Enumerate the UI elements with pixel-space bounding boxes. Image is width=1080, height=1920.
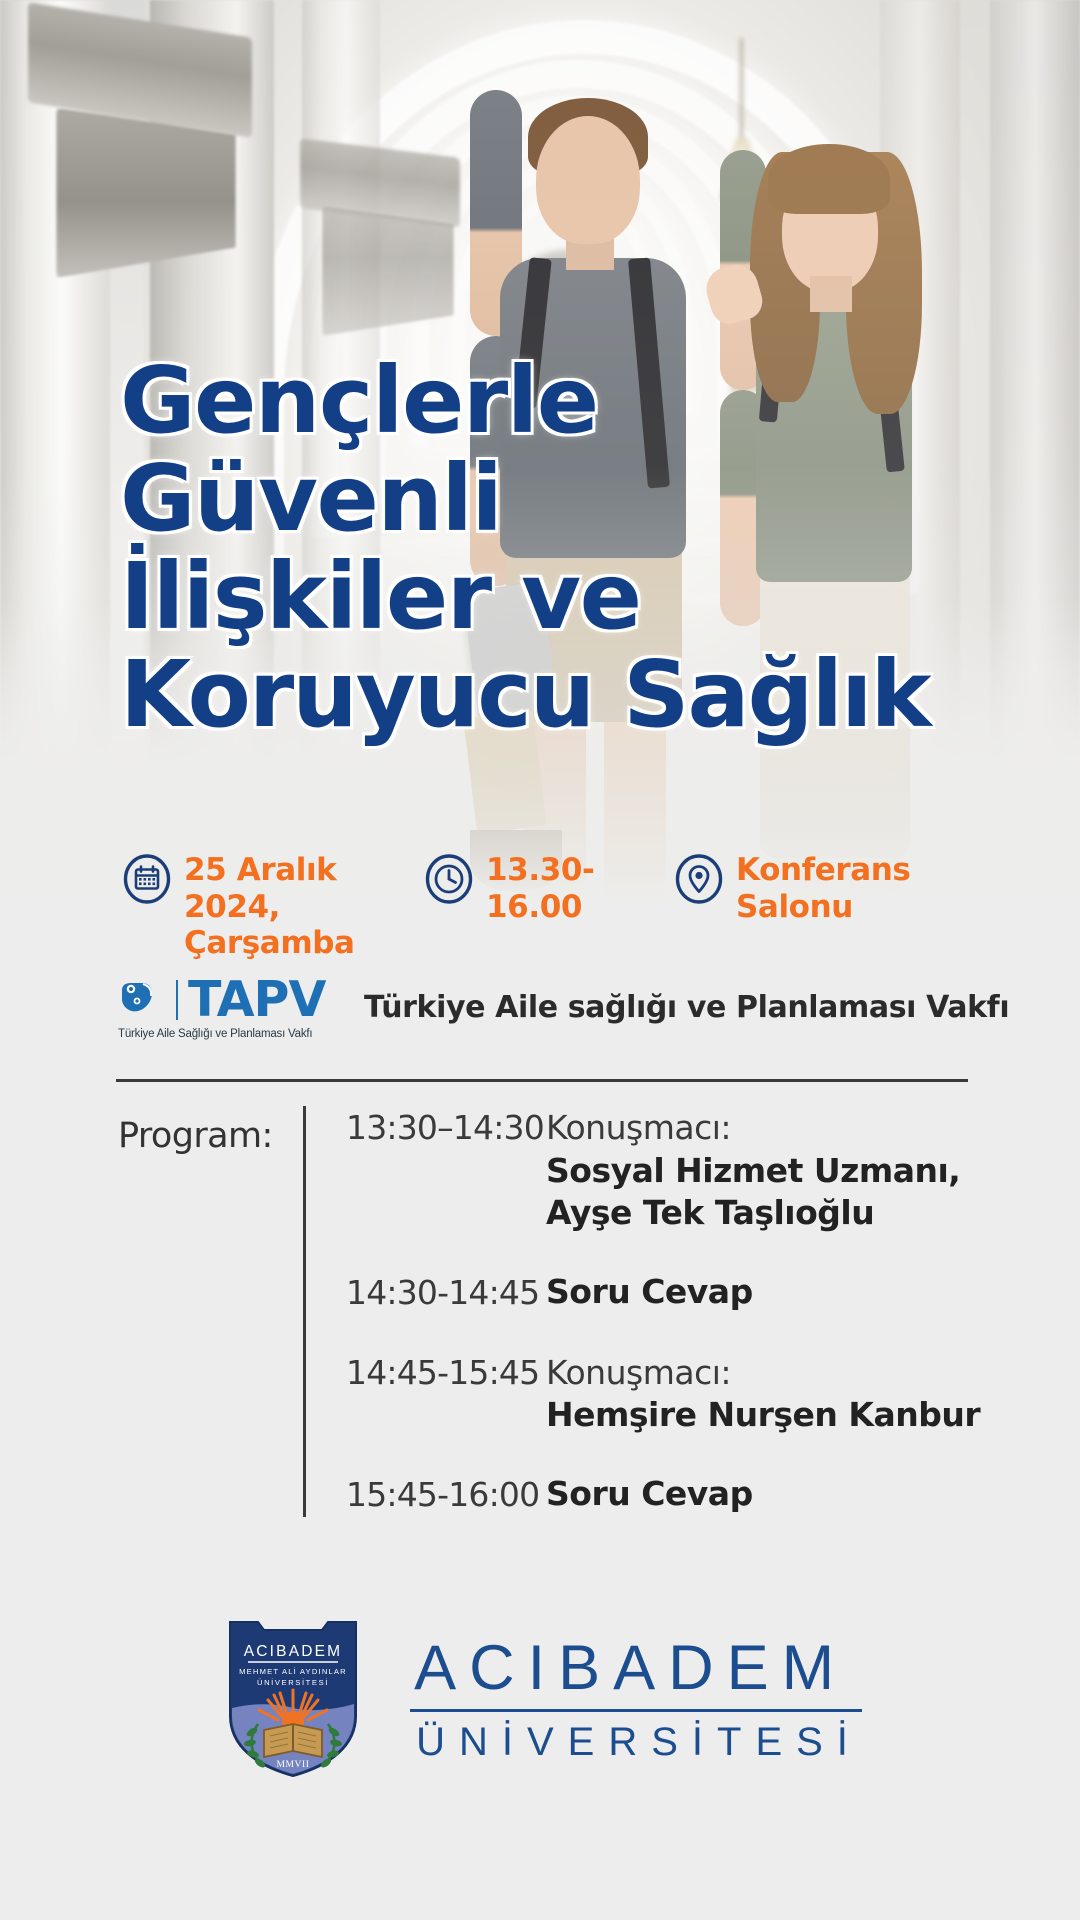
acibadem-wordmark-line2: ÜNİVERSİTESİ bbox=[410, 1722, 862, 1763]
tapv-tagline: Türkiye Aile Sağlığı ve Planlaması Vakfı bbox=[118, 1028, 312, 1040]
program-row: 13:30–14:30 Konuşmacı: Sosyal Hizmet Uzm… bbox=[346, 1106, 998, 1235]
program-row-strong-1: Soru Cevap bbox=[546, 1271, 998, 1314]
program-row: 15:45-16:00 Soru Cevap bbox=[346, 1473, 998, 1517]
info-date: 25 Aralık 2024, Çarşamba bbox=[122, 852, 410, 962]
info-time: 13.30-16.00 bbox=[424, 852, 660, 925]
event-info-bar: 25 Aralık 2024, Çarşamba 13.30-16.00 bbox=[122, 852, 1002, 962]
section-divider bbox=[116, 1079, 968, 1082]
program-rows: 13:30–14:30 Konuşmacı: Sosyal Hizmet Uzm… bbox=[346, 1106, 998, 1517]
svg-text:MMVII: MMVII bbox=[277, 1760, 310, 1770]
acibadem-wordmark: ACIBADEM ÜNİVERSİTESİ bbox=[410, 1636, 862, 1763]
tapv-title: Türkiye Aile sağlığı ve Planlaması Vakfı bbox=[364, 990, 1009, 1025]
tapv-logo-icon bbox=[118, 977, 166, 1022]
info-time-text: 13.30-16.00 bbox=[486, 852, 660, 925]
program-row-strong-1: Sosyal Hizmet Uzmanı, bbox=[546, 1150, 998, 1193]
title-line-2: Güvenli bbox=[120, 453, 990, 545]
footer-branding: ACIBADEM MEHMET ALİ AYDINLAR ÜNİVERSİTES… bbox=[0, 1612, 1080, 1787]
event-poster: Gençlerle Güvenli İlişkiler ve Koruyucu … bbox=[0, 0, 1080, 1920]
info-date-line2: Çarşamba bbox=[184, 925, 410, 962]
clock-icon bbox=[424, 854, 474, 909]
program-row-time: 15:45-16:00 bbox=[346, 1473, 546, 1517]
info-date-text: 25 Aralık 2024, Çarşamba bbox=[184, 852, 410, 962]
program-vertical-rule bbox=[303, 1106, 306, 1517]
info-location: Konferans Salonu bbox=[674, 852, 924, 925]
program-row-description: Konuşmacı: Hemşire Nurşen Kanbur bbox=[546, 1351, 998, 1437]
info-time-line1: 13.30-16.00 bbox=[486, 852, 595, 925]
program-row-time: 14:45-15:45 bbox=[346, 1351, 546, 1437]
program-row-strong-1: Soru Cevap bbox=[546, 1473, 998, 1516]
info-date-line1: 25 Aralık 2024, bbox=[184, 852, 336, 925]
info-location-text: Konferans Salonu bbox=[736, 852, 910, 925]
acibadem-wordmark-separator bbox=[410, 1709, 862, 1712]
program-row: 14:45-15:45 Konuşmacı: Hemşire Nurşen Ka… bbox=[346, 1351, 998, 1437]
title-line-3: İlişkiler ve bbox=[120, 551, 990, 643]
program-row-strong-1: Hemşire Nurşen Kanbur bbox=[546, 1394, 998, 1437]
program-row-lead: Konuşmacı: bbox=[546, 1351, 998, 1395]
svg-text:ÜNİVERSİTESİ: ÜNİVERSİTESİ bbox=[257, 1678, 329, 1687]
calendar-icon bbox=[122, 854, 172, 909]
tapv-wordmark: TAPV bbox=[188, 975, 325, 1024]
program-row-strong-2: Ayşe Tek Taşlıoğlu bbox=[546, 1192, 998, 1235]
map-pin-icon bbox=[674, 854, 724, 909]
program-row-time: 13:30–14:30 bbox=[346, 1106, 546, 1235]
svg-text:ACIBADEM: ACIBADEM bbox=[244, 1643, 343, 1660]
tapv-logo: TAPV Türkiye Aile Sağlığı ve Planlaması … bbox=[118, 975, 324, 1040]
program-row: 14:30-14:45 Soru Cevap bbox=[346, 1271, 998, 1315]
program-row-description: Konuşmacı: Sosyal Hizmet Uzmanı, Ayşe Te… bbox=[546, 1106, 998, 1235]
info-location-line1: Konferans bbox=[736, 852, 910, 888]
title-line-1: Gençlerle bbox=[120, 355, 990, 447]
program-section: Program: 13:30–14:30 Konuşmacı: Sosyal H… bbox=[118, 1106, 998, 1517]
program-row-time: 14:30-14:45 bbox=[346, 1271, 546, 1315]
acibadem-crest-icon: ACIBADEM MEHMET ALİ AYDINLAR ÜNİVERSİTES… bbox=[218, 1612, 368, 1787]
program-row-description: Soru Cevap bbox=[546, 1473, 998, 1517]
tapv-row: TAPV Türkiye Aile Sağlığı ve Planlaması … bbox=[118, 975, 998, 1040]
title-line-4: Koruyucu Sağlık bbox=[120, 649, 990, 741]
program-row-lead: Konuşmacı: bbox=[546, 1106, 998, 1150]
svg-text:MEHMET ALİ AYDINLAR: MEHMET ALİ AYDINLAR bbox=[239, 1667, 347, 1676]
info-location-line2: Salonu bbox=[736, 889, 910, 926]
acibadem-wordmark-line1: ACIBADEM bbox=[410, 1636, 862, 1700]
program-label: Program: bbox=[118, 1106, 303, 1517]
poster-title: Gençlerle Güvenli İlişkiler ve Koruyucu … bbox=[120, 355, 990, 747]
program-row-description: Soru Cevap bbox=[546, 1271, 998, 1315]
